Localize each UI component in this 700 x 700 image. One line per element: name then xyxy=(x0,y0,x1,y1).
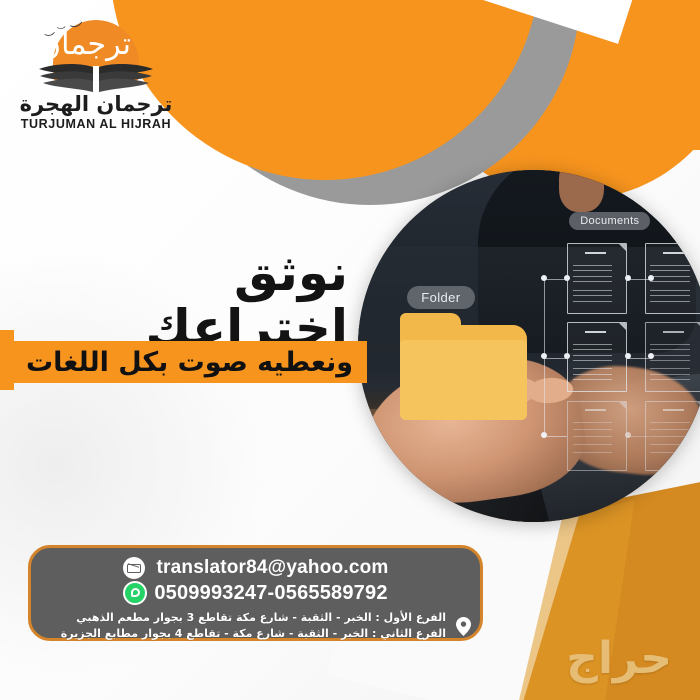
contact-address-block: الفرع الأول : الخبر - الثقبة - شارع مكة … xyxy=(31,610,480,642)
folder-label: Folder xyxy=(407,286,474,309)
document-node xyxy=(567,322,627,392)
brand-logo[interactable]: ترجمان ︶ ︶ ︶ ترجمان الهجرة TURJUMAN AL H… xyxy=(16,10,176,131)
logo-mark-icon: ترجمان ︶ ︶ ︶ xyxy=(31,10,161,94)
whatsapp-icon xyxy=(123,581,147,605)
document-node xyxy=(645,243,700,313)
address-line-2: الفرع الثاني : الخبر - الثقبة - شارع مكة… xyxy=(45,626,446,642)
haraj-watermark: حراج xyxy=(566,633,672,684)
contact-phone-text: 0509993247-0565589792 xyxy=(154,582,387,605)
headline-banner: ونعطيه صوت بكل اللغات xyxy=(12,341,367,383)
headline-primary: نوثق اختراعك xyxy=(18,246,348,356)
map-pin-icon xyxy=(456,617,471,636)
document-node xyxy=(567,243,627,313)
logo-arabic-name: ترجمان الهجرة xyxy=(16,92,176,116)
contact-panel: translator84@yahoo.com 0509993247-056558… xyxy=(28,545,483,641)
poster-canvas: Folder Documents xyxy=(0,0,700,700)
documents-label: Documents xyxy=(569,212,650,230)
document-node xyxy=(567,401,627,471)
folder-graphic xyxy=(400,325,527,420)
contact-email-text: translator84@yahoo.com xyxy=(157,557,389,579)
documents-diagram xyxy=(541,233,700,486)
folder-front xyxy=(400,340,527,420)
diagram-wire xyxy=(544,436,567,437)
bird-icon: ︶ xyxy=(56,24,66,38)
contact-email-row[interactable]: translator84@yahoo.com xyxy=(31,557,480,579)
logo-english-name: TURJUMAN AL HIJRAH xyxy=(16,117,176,131)
headline-banner-text: ونعطيه صوت بكل اللغات xyxy=(26,347,353,378)
address-line-1: الفرع الأول : الخبر - الثقبة - شارع مكة … xyxy=(45,610,446,626)
photo-person-neck xyxy=(559,170,605,212)
mail-icon xyxy=(123,557,145,579)
hero-photo-circle: Folder Documents xyxy=(358,170,700,522)
open-book-icon xyxy=(37,62,155,94)
document-node xyxy=(645,322,700,392)
document-node xyxy=(645,401,700,471)
contact-phone-row[interactable]: 0509993247-0565589792 xyxy=(31,581,480,605)
